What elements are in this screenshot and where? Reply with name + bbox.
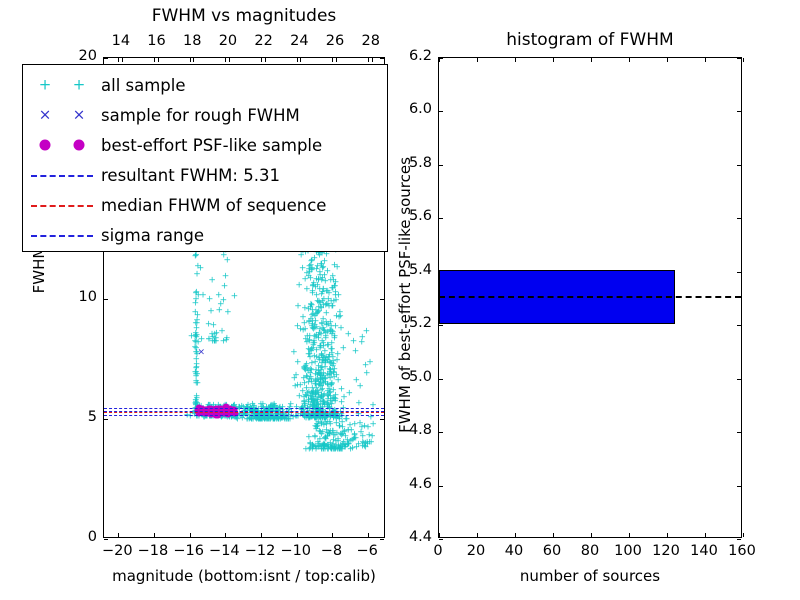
scatter-point-all-sample: + (220, 251, 228, 260)
scatter-point-all-sample: + (327, 366, 335, 375)
scatter-point-all-sample: + (315, 362, 323, 371)
scatter-point-all-sample: + (318, 445, 326, 454)
scatter-point-all-sample: + (362, 443, 370, 452)
cross-icon: × (39, 108, 52, 123)
scatter-point-all-sample: + (313, 375, 321, 384)
scatter-point-all-sample: + (316, 271, 324, 280)
scatter-point-all-sample: + (212, 334, 220, 343)
scatter-point-all-sample: + (324, 395, 332, 404)
scatter-point-all-sample: + (256, 415, 264, 424)
scatter-point-all-sample: + (315, 368, 323, 377)
scatter-point-all-sample: + (194, 291, 202, 300)
scatter-point-all-sample: + (325, 303, 333, 312)
scatter-point-all-sample: + (221, 283, 229, 292)
scatter-x-tick (118, 533, 119, 537)
scatter-point-all-sample: + (332, 288, 340, 297)
histogram-x-tick (667, 58, 668, 62)
scatter-point-all-sample: + (327, 397, 335, 406)
scatter-point-all-sample: + (269, 415, 277, 424)
scatter-point-all-sample: + (346, 422, 354, 431)
scatter-point-all-sample: + (303, 338, 311, 347)
scatter-point-all-sample: + (193, 333, 201, 342)
scatter-point-all-sample: + (339, 423, 347, 432)
scatter-point-all-sample: + (183, 412, 191, 421)
scatter-point-all-sample: + (335, 291, 343, 300)
scatter-y-tick-label: 0 (49, 529, 97, 545)
scatter-point-all-sample: + (306, 445, 314, 454)
scatter-point-all-sample: + (267, 402, 275, 411)
scatter-point-all-sample: + (192, 252, 200, 261)
scatter-point-all-sample: + (311, 442, 319, 451)
plot-legend[interactable]: ++all sample××sample for rough FWHMbest-… (22, 64, 388, 252)
scatter-point-all-sample: + (218, 327, 226, 336)
scatter-point-all-sample: + (192, 365, 200, 374)
scatter-point-all-sample: + (328, 445, 336, 454)
scatter-point-all-sample: + (321, 445, 329, 454)
scatter-point-all-sample: + (192, 369, 200, 378)
scatter-point-all-sample: + (309, 345, 317, 354)
legend-handle (23, 160, 101, 190)
scatter-point-all-sample: + (335, 445, 343, 454)
scatter-point-all-sample: + (319, 340, 327, 349)
scatter-point-all-sample: + (270, 415, 278, 424)
scatter-point-all-sample: + (256, 415, 264, 424)
scatter-point-all-sample: + (324, 443, 332, 452)
scatter-point-all-sample: + (192, 372, 200, 381)
histogram-y-tick (737, 111, 741, 112)
scatter-point-all-sample: + (331, 366, 339, 375)
scatter-point-all-sample: + (308, 390, 316, 399)
scatter-point-all-sample: + (338, 385, 346, 394)
scatter-point-all-sample: + (199, 291, 207, 300)
scatter-point-all-sample: + (312, 445, 320, 454)
scatter-point-all-sample: + (267, 402, 275, 411)
scatter-point-all-sample: + (309, 394, 317, 403)
scatter-point-all-sample: + (275, 409, 283, 418)
scatter-point-all-sample: + (324, 380, 332, 389)
scatter-point-all-sample: + (249, 415, 257, 424)
scatter-point-all-sample: + (342, 444, 350, 453)
scatter-point-all-sample: + (316, 442, 324, 451)
scatter-point-all-sample: + (309, 324, 317, 333)
legend-item[interactable]: median FHWM of sequence (23, 190, 387, 220)
scatter-point-all-sample: + (305, 305, 313, 314)
scatter-point-all-sample: + (277, 412, 285, 421)
legend-item[interactable]: ++all sample (23, 70, 387, 100)
scatter-point-all-sample: + (220, 412, 228, 421)
scatter-point-all-sample: + (305, 346, 313, 355)
scatter-point-all-sample: + (316, 442, 324, 451)
scatter-point-all-sample: + (325, 441, 333, 450)
scatter-point-all-sample: + (315, 441, 323, 450)
scatter-point-all-sample: + (249, 402, 257, 411)
scatter-point-all-sample: + (260, 405, 268, 414)
scatter-point-all-sample: + (230, 412, 238, 421)
scatter-point-all-sample: + (220, 337, 228, 346)
scatter-point-all-sample: + (299, 411, 307, 420)
scatter-point-all-sample: + (205, 401, 213, 410)
scatter-point-all-sample: + (256, 415, 264, 424)
scatter-point-all-sample: + (294, 381, 302, 390)
scatter-point-all-sample: + (308, 322, 316, 331)
scatter-point-all-sample: + (326, 390, 334, 399)
scatter-point-all-sample: + (309, 289, 317, 298)
scatter-point-all-sample: + (315, 334, 323, 343)
scatter-point-all-sample: + (296, 392, 304, 401)
scatter-point-all-sample: + (207, 412, 215, 421)
scatter-point-all-sample: + (323, 310, 331, 319)
scatter-point-all-sample: + (192, 397, 200, 406)
legend-item[interactable]: ××sample for rough FWHM (23, 100, 387, 130)
scatter-point-all-sample: + (205, 335, 213, 344)
scatter-point-all-sample: + (192, 253, 200, 262)
histogram-x-tick (553, 533, 554, 537)
histogram-y-tick-label: 6.0 (384, 101, 432, 117)
scatter-point-all-sample: + (268, 408, 276, 417)
scatter-point-all-sample: + (340, 439, 348, 448)
scatter-point-all-sample: + (318, 394, 326, 403)
scatter-point-all-sample: + (192, 319, 200, 328)
scatter-y-tick-label: 20 (49, 48, 97, 64)
scatter-point-all-sample: + (194, 412, 202, 421)
scatter-point-all-sample: + (317, 375, 325, 384)
scatter-point-all-sample: + (311, 339, 319, 348)
scatter-point-all-sample: + (324, 412, 332, 421)
scatter-point-all-sample: + (261, 415, 269, 424)
scatter-point-all-sample: + (284, 415, 292, 424)
scatter-point-all-sample: + (327, 392, 335, 401)
scatter-point-all-sample: + (268, 411, 276, 420)
filled-circle-icon (74, 140, 85, 151)
histogram-y-tick-label: 4.6 (384, 476, 432, 492)
scatter-point-all-sample: + (327, 445, 335, 454)
scatter-point-all-sample: + (349, 445, 357, 454)
scatter-top-tick (158, 58, 159, 62)
scatter-point-all-sample: + (327, 323, 335, 332)
scatter-point-all-sample: + (305, 273, 313, 282)
scatter-point-all-sample: + (324, 433, 332, 442)
scatter-point-all-sample: + (308, 346, 316, 355)
scatter-point-all-sample: + (324, 445, 332, 454)
scatter-point-all-sample: + (351, 430, 359, 439)
scatter-point-all-sample: + (306, 262, 314, 271)
scatter-point-all-sample: + (309, 402, 317, 411)
scatter-point-all-sample: + (350, 338, 358, 347)
scatter-point-all-sample: + (330, 445, 338, 454)
scatter-point-all-sample: + (308, 265, 316, 274)
scatter-point-all-sample: + (275, 415, 283, 424)
scatter-point-all-sample: + (213, 330, 221, 339)
scatter-x-tick (118, 58, 119, 62)
scatter-point-all-sample: + (351, 431, 359, 440)
scatter-point-all-sample: + (249, 408, 257, 417)
scatter-point-all-sample: + (304, 333, 312, 342)
scatter-point-all-sample: + (315, 355, 323, 364)
scatter-point-all-sample: + (327, 381, 335, 390)
scatter-point-all-sample: + (311, 325, 319, 334)
scatter-point-all-sample: + (327, 428, 335, 437)
scatter-point-all-sample: + (225, 412, 233, 421)
scatter-point-all-sample: + (290, 348, 298, 357)
scatter-point-all-sample: + (310, 399, 318, 408)
histogram-median-line (439, 296, 741, 298)
scatter-point-all-sample: + (321, 418, 329, 427)
scatter-point-all-sample: + (341, 428, 349, 437)
scatter-point-all-sample: + (325, 372, 333, 381)
scatter-point-all-sample: + (194, 380, 202, 389)
scatter-top-tick (122, 58, 123, 62)
scatter-point-all-sample: + (316, 381, 324, 390)
scatter-point-all-sample: + (208, 277, 216, 286)
scatter-point-all-sample: + (300, 375, 308, 384)
scatter-point-all-sample: + (322, 378, 330, 387)
scatter-y-tick-label: 5 (49, 409, 97, 425)
scatter-point-all-sample: + (258, 414, 266, 423)
scatter-point-all-sample: + (202, 411, 210, 420)
scatter-point-all-sample: + (312, 306, 320, 315)
scatter-point-all-sample: + (332, 278, 340, 287)
scatter-point-all-sample: + (317, 382, 325, 391)
scatter-point-all-sample: + (318, 290, 326, 299)
scatter-point-all-sample: + (291, 382, 299, 391)
scatter-point-all-sample: + (327, 297, 335, 306)
scatter-point-all-sample: + (267, 415, 275, 424)
scatter-point-all-sample: + (328, 445, 336, 454)
scatter-point-all-sample: + (263, 412, 271, 421)
scatter-point-all-sample: + (328, 445, 336, 454)
scatter-point-all-sample: + (318, 320, 326, 329)
scatter-point-all-sample: + (318, 379, 326, 388)
scatter-point-all-sample: + (223, 402, 231, 411)
histogram-title: histogram of FWHM (438, 30, 742, 50)
scatter-point-all-sample: + (315, 370, 323, 379)
scatter-point-all-sample: + (302, 391, 310, 400)
scatter-point-all-sample: + (274, 415, 282, 424)
scatter-point-all-sample: + (193, 289, 201, 298)
scatter-point-all-sample: + (302, 445, 310, 454)
scatter-point-all-sample: + (305, 319, 313, 328)
scatter-point-all-sample: + (315, 369, 323, 378)
scatter-point-all-sample: + (319, 386, 327, 395)
scatter-point-all-sample: + (318, 445, 326, 454)
scatter-point-all-sample: + (308, 388, 316, 397)
scatter-point-all-sample: + (231, 401, 239, 410)
scatter-point-all-sample: + (301, 326, 309, 335)
scatter-point-all-sample: + (297, 252, 305, 261)
scatter-point-all-sample: + (309, 320, 317, 329)
scatter-point-all-sample: + (271, 415, 279, 424)
scatter-point-all-sample: + (328, 371, 336, 380)
histogram-y-tick (737, 58, 741, 59)
scatter-point-all-sample: + (320, 286, 328, 295)
scatter-point-all-sample: + (304, 396, 312, 405)
legend-item[interactable]: sigma range (23, 220, 387, 250)
scatter-point-all-sample: + (320, 398, 328, 407)
scatter-point-all-sample: + (309, 441, 317, 450)
scatter-point-all-sample: + (221, 409, 229, 418)
scatter-point-all-sample: + (322, 433, 330, 442)
scatter-point-all-sample: + (319, 324, 327, 333)
scatter-x-tick (368, 533, 369, 537)
scatter-point-all-sample: + (340, 394, 348, 403)
scatter-point-all-sample: + (334, 446, 342, 455)
legend-handle (23, 190, 101, 220)
scatter-point-all-sample: + (255, 415, 263, 424)
scatter-x-tick-label: −6 (342, 543, 392, 559)
scatter-point-all-sample: + (311, 398, 319, 407)
scatter-point-all-sample: + (191, 343, 199, 352)
scatter-point-all-sample: + (245, 415, 253, 424)
scatter-point-all-sample: + (313, 411, 321, 420)
scatter-point-all-sample: + (255, 412, 263, 421)
scatter-point-all-sample: + (349, 436, 357, 445)
histogram-y-tick (439, 539, 443, 540)
scatter-point-all-sample: + (337, 409, 345, 418)
scatter-point-all-sample: + (329, 408, 337, 417)
scatter-point-all-sample: + (271, 402, 279, 411)
histogram-y-tick-label: 5.4 (384, 262, 432, 278)
histogram-y-tick (737, 325, 741, 326)
histogram-y-tick (439, 325, 443, 326)
scatter-point-all-sample: + (301, 275, 309, 284)
scatter-point-all-sample: + (299, 265, 307, 274)
cross-icon: × (73, 108, 86, 123)
scatter-point-all-sample: + (308, 412, 316, 421)
scatter-point-all-sample: + (359, 433, 367, 442)
scatter-point-all-sample: + (265, 415, 273, 424)
scatter-point-all-sample: + (363, 328, 371, 337)
scatter-point-all-sample: + (192, 405, 200, 414)
scatter-point-all-sample: + (346, 390, 354, 399)
figure-canvas: ++++++++++++++++++++++++++++++++++++++++… (0, 0, 800, 600)
scatter-point-all-sample: + (225, 408, 233, 417)
legend-item[interactable]: resultant FWHM: 5.31 (23, 160, 387, 190)
scatter-point-all-sample: + (311, 313, 319, 322)
scatter-point-all-sample: + (226, 412, 234, 421)
scatter-point-all-sample: + (311, 321, 319, 330)
scatter-point-all-sample: + (209, 411, 217, 420)
scatter-point-all-sample: + (302, 367, 310, 376)
scatter-point-all-sample: + (310, 338, 318, 347)
scatter-point-all-sample: + (297, 381, 305, 390)
scatter-point-all-sample: + (364, 424, 372, 433)
scatter-point-all-sample: + (248, 415, 256, 424)
scatter-point-all-sample: + (337, 324, 345, 333)
scatter-point-all-sample: + (206, 412, 214, 421)
scatter-point-all-sample: + (193, 370, 201, 379)
scatter-point-all-sample: + (317, 366, 325, 375)
scatter-point-all-sample: + (313, 390, 321, 399)
scatter-y-tick (104, 419, 108, 420)
scatter-point-all-sample: + (212, 411, 220, 420)
scatter-point-all-sample: + (340, 440, 348, 449)
scatter-point-all-sample: + (256, 415, 264, 424)
scatter-point-all-sample: + (320, 421, 328, 430)
scatter-point-all-sample: + (307, 274, 315, 283)
scatter-point-all-sample: + (312, 377, 320, 386)
scatter-point-all-sample: + (319, 356, 327, 365)
scatter-point-all-sample: + (330, 361, 338, 370)
scatter-point-all-sample: + (261, 408, 269, 417)
scatter-point-all-sample: + (326, 388, 334, 397)
scatter-point-all-sample: + (313, 266, 321, 275)
scatter-point-all-sample: + (247, 405, 255, 414)
scatter-point-all-sample: + (274, 415, 282, 424)
scatter-point-all-sample: + (306, 346, 314, 355)
scatter-point-all-sample: + (356, 419, 364, 428)
scatter-point-all-sample: + (311, 381, 319, 390)
scatter-point-all-sample: + (317, 343, 325, 352)
scatter-point-all-sample: + (309, 310, 317, 319)
scatter-point-all-sample: + (333, 356, 341, 365)
scatter-point-all-sample: + (321, 364, 329, 373)
scatter-point-all-sample: + (205, 336, 213, 345)
scatter-point-all-sample: + (192, 290, 200, 299)
histogram-y-tick (737, 379, 741, 380)
scatter-x-tick (368, 58, 369, 62)
plus-icon: + (73, 78, 86, 93)
scatter-point-all-sample: + (321, 354, 329, 363)
scatter-point-all-sample: + (299, 326, 307, 335)
scatter-point-all-sample: + (309, 390, 317, 399)
scatter-point-all-sample: + (317, 261, 325, 270)
scatter-point-all-sample: + (321, 402, 329, 411)
scatter-point-all-sample: + (306, 412, 314, 421)
scatter-point-all-sample: + (325, 392, 333, 401)
scatter-point-all-sample: + (318, 393, 326, 402)
scatter-point-all-sample: + (281, 415, 289, 424)
scatter-point-all-sample: + (301, 365, 309, 374)
scatter-point-all-sample: + (307, 376, 315, 385)
scatter-point-all-sample: + (364, 440, 372, 449)
legend-item[interactable]: best-effort PSF-like sample (23, 130, 387, 160)
scatter-point-all-sample: + (223, 409, 231, 418)
scatter-point-all-sample: + (271, 402, 279, 411)
scatter-point-all-sample: + (260, 415, 268, 424)
scatter-point-all-sample: + (308, 397, 316, 406)
scatter-point-all-sample: + (330, 373, 338, 382)
scatter-point-all-sample: + (317, 374, 325, 383)
scatter-point-all-sample: + (258, 415, 266, 424)
scatter-point-all-sample: + (307, 366, 315, 375)
scatter-point-all-sample: + (265, 405, 273, 414)
scatter-point-all-sample: + (326, 420, 334, 429)
scatter-point-all-sample: + (305, 378, 313, 387)
scatter-point-all-sample: + (254, 415, 262, 424)
scatter-point-all-sample: + (309, 442, 317, 451)
scatter-point-all-sample: + (306, 350, 314, 359)
histogram-x-tick (515, 58, 516, 62)
scatter-point-all-sample: + (316, 300, 324, 309)
scatter-point-all-sample: + (285, 415, 293, 424)
histogram-axes (438, 57, 742, 538)
scatter-point-all-sample: + (308, 396, 316, 405)
scatter-point-all-sample: + (308, 312, 316, 321)
scatter-point-all-sample: + (261, 415, 269, 424)
scatter-point-all-sample: + (307, 402, 315, 411)
scatter-point-all-sample: + (303, 373, 311, 382)
scatter-point-all-sample: + (318, 351, 326, 360)
scatter-point-all-sample: + (279, 415, 287, 424)
scatter-point-all-sample: + (336, 313, 344, 322)
scatter-point-all-sample: + (320, 390, 328, 399)
scatter-point-all-sample: + (353, 443, 361, 452)
scatter-point-all-sample: + (323, 300, 331, 309)
scatter-point-all-sample: + (212, 411, 220, 420)
scatter-point-all-sample: + (322, 277, 330, 286)
scatter-point-all-sample: + (192, 399, 200, 408)
scatter-top-tick (372, 58, 373, 62)
